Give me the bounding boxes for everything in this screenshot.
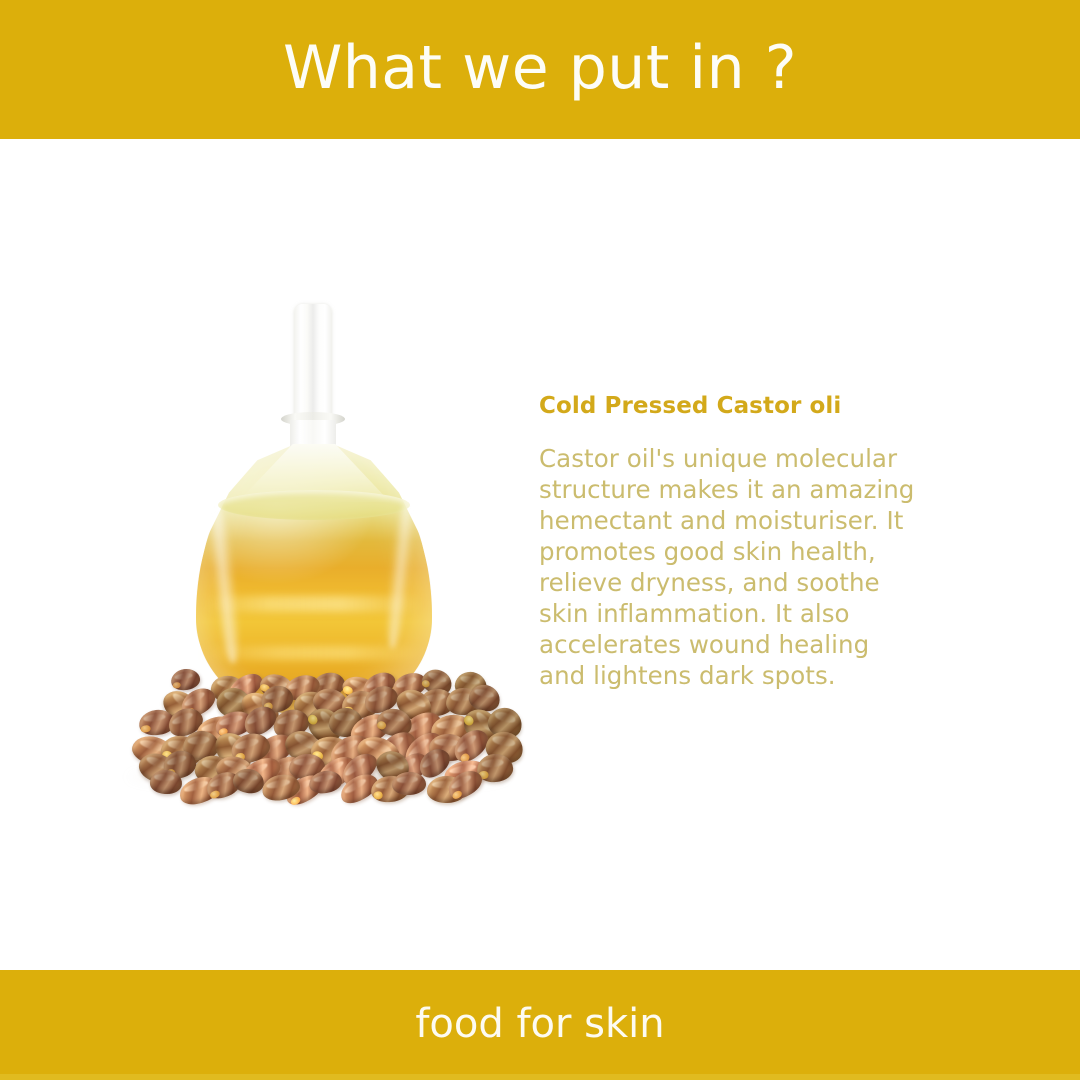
castor-seed-tip (141, 724, 151, 732)
header-band: What we put in ? (0, 0, 1080, 139)
page-title: What we put in ? (283, 38, 797, 98)
footer-accent-strip (0, 1074, 1080, 1080)
promo-card: What we put in ? Cold Pressed Castor oli… (0, 0, 1080, 1080)
castor-seed-tip (172, 682, 180, 689)
content-stage: Cold Pressed Castor oli Castor oil's uni… (0, 139, 1080, 970)
footer-band: food for skin (0, 970, 1080, 1080)
castor-seed-tip (377, 720, 388, 730)
ingredient-copy: Cold Pressed Castor oli Castor oil's uni… (539, 393, 959, 691)
brand-tagline: food for skin (415, 1004, 664, 1044)
castor-seed-tip (306, 714, 319, 727)
product-image (118, 294, 518, 794)
castor-seed-pile (118, 672, 518, 794)
ingredient-description: Castor oil's unique molecularstructure m… (539, 443, 959, 691)
castor-seed-tip (209, 789, 220, 799)
ingredient-heading: Cold Pressed Castor oli (539, 393, 959, 421)
castor-seed-tip (373, 791, 384, 800)
oil-meniscus (218, 490, 410, 520)
